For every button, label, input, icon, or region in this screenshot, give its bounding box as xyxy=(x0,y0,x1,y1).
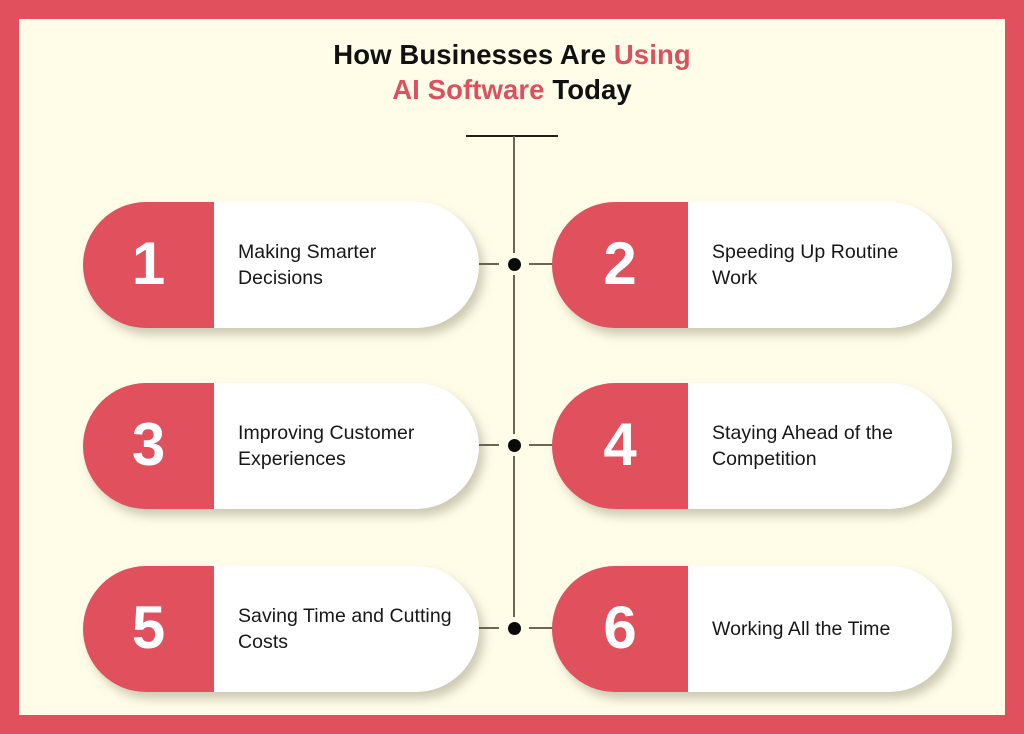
connector-node-row-2 xyxy=(497,428,531,462)
infographic-canvas: How Businesses Are Using AI Software Tod… xyxy=(19,19,1005,715)
spine-top-bar-icon xyxy=(466,135,558,137)
connector-dot-ring-icon xyxy=(503,253,525,275)
item-label: Saving Time and Cutting Costs xyxy=(238,603,453,656)
item-body: Working All the Time xyxy=(688,566,952,692)
item-body: Speeding Up Routine Work xyxy=(688,202,952,328)
item-label: Staying Ahead of the Competition xyxy=(712,420,926,473)
connector-node-row-1 xyxy=(497,247,531,281)
page-title: How Businesses Are Using AI Software Tod… xyxy=(19,37,1005,107)
item-number-badge: 1 xyxy=(83,202,214,328)
title-line-1-plain: How Businesses Are xyxy=(333,39,614,70)
list-item[interactable]: 4 Staying Ahead of the Competition xyxy=(552,383,952,509)
connector-dot-icon xyxy=(508,622,521,635)
list-item[interactable]: 1 Making Smarter Decisions xyxy=(83,202,479,328)
connector-dot-ring-icon xyxy=(503,434,525,456)
title-line-1-accent: Using xyxy=(614,39,691,70)
item-number-badge: 2 xyxy=(552,202,688,328)
item-body: Staying Ahead of the Competition xyxy=(688,383,952,509)
title-line-2-plain: Today xyxy=(545,74,632,105)
item-body: Saving Time and Cutting Costs xyxy=(214,566,479,692)
title-line-2-accent: AI Software xyxy=(392,74,544,105)
item-label: Making Smarter Decisions xyxy=(238,239,453,292)
list-item[interactable]: 5 Saving Time and Cutting Costs xyxy=(83,566,479,692)
item-body: Making Smarter Decisions xyxy=(214,202,479,328)
item-body: Improving Customer Experiences xyxy=(214,383,479,509)
connector-node-row-3 xyxy=(497,611,531,645)
item-number-badge: 3 xyxy=(83,383,214,509)
item-label: Speeding Up Routine Work xyxy=(712,239,926,292)
title-line-2: AI Software Today xyxy=(19,72,1005,107)
spine-vertical-line-icon xyxy=(513,136,515,629)
list-item[interactable]: 3 Improving Customer Experiences xyxy=(83,383,479,509)
item-number-badge: 5 xyxy=(83,566,214,692)
item-label: Improving Customer Experiences xyxy=(238,420,453,473)
list-item[interactable]: 6 Working All the Time xyxy=(552,566,952,692)
connector-dot-icon xyxy=(508,258,521,271)
item-label: Working All the Time xyxy=(712,616,890,642)
item-number-badge: 6 xyxy=(552,566,688,692)
infographic-frame: How Businesses Are Using AI Software Tod… xyxy=(0,0,1024,734)
connector-dot-icon xyxy=(508,439,521,452)
connector-dot-ring-icon xyxy=(503,617,525,639)
list-item[interactable]: 2 Speeding Up Routine Work xyxy=(552,202,952,328)
title-line-1: How Businesses Are Using xyxy=(19,37,1005,72)
item-number-badge: 4 xyxy=(552,383,688,509)
